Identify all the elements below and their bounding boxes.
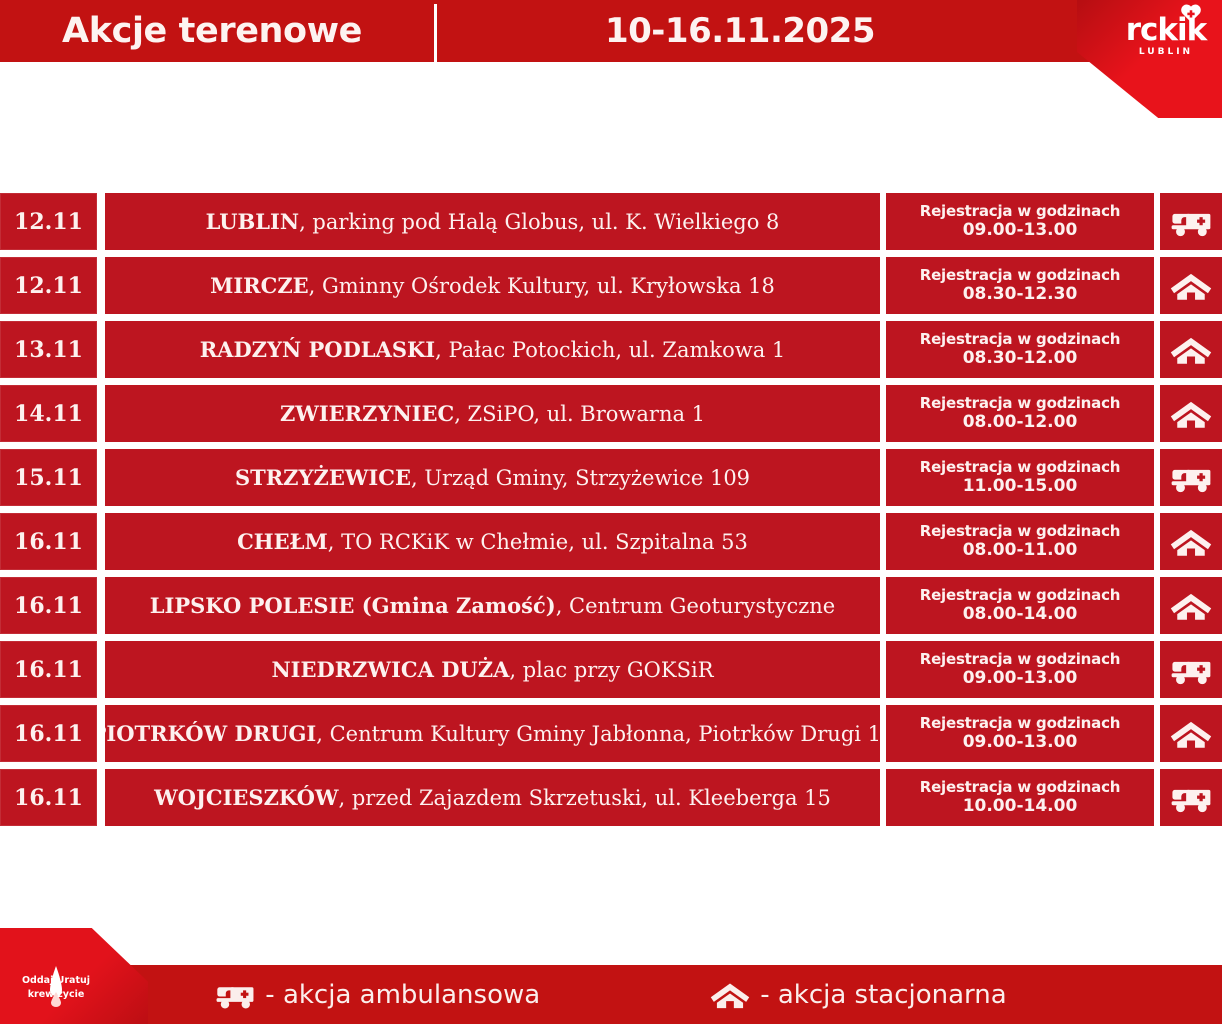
row-city: LUBLIN <box>206 209 299 234</box>
row-address: , przed Zajazdem Skrzetuski, ul. Kleeber… <box>339 786 831 810</box>
footer-legend-bar: - akcja ambulansowa - akcja stacjonarna <box>0 965 1222 1024</box>
legend-label-ambulance: - akcja ambulansowa <box>265 980 540 1010</box>
row-address: , parking pod Halą Globus, ul. K. Wielki… <box>299 210 779 234</box>
row-address: , Gminny Ośrodek Kultury, ul. Kryłowska … <box>309 274 775 298</box>
row-date: 13.11 <box>0 321 97 378</box>
row-date: 12.11 <box>0 257 97 314</box>
logo-wordmark: rckik <box>1118 6 1214 46</box>
row-action-type-icon <box>1160 513 1222 570</box>
registration-label: Rejestracja w godzinach <box>920 522 1121 540</box>
row-city: PIOTRKÓW DRUGI <box>105 721 316 746</box>
cell-gap <box>97 513 105 570</box>
house-icon <box>1170 397 1212 431</box>
row-address: , Pałac Potockich, ul. Zamkowa 1 <box>435 338 785 362</box>
registration-hours: 10.00-14.00 <box>963 796 1078 817</box>
table-row: 16.11CHEŁM, TO RCKiK w Chełmie, ul. Szpi… <box>0 513 1222 570</box>
table-row: 16.11LIPSKO POLESIE (Gmina Zamość), Cent… <box>0 577 1222 634</box>
house-icon <box>1170 717 1212 751</box>
row-city: NIEDRZWICA DUŻA <box>271 657 509 682</box>
table-row: 15.11STRZYŻEWICE, Urząd Gminy, Strzyżewi… <box>0 449 1222 506</box>
row-action-type-icon <box>1160 705 1222 762</box>
row-action-type-icon <box>1160 449 1222 506</box>
row-address: , Centrum Kultury Gminy Jabłonna, Piotrk… <box>316 722 880 746</box>
row-registration: Rejestracja w godzinach09.00-13.00 <box>886 705 1154 762</box>
house-icon <box>710 979 750 1011</box>
row-date: 16.11 <box>0 641 97 698</box>
row-city: STRZYŻEWICE <box>235 465 411 490</box>
table-row: 14.11ZWIERZYNIEC, ZSiPO, ul. Browarna 1R… <box>0 385 1222 442</box>
donate-blood-badge: Oddaj Uratuj krew życie <box>0 928 148 1024</box>
header-divider <box>434 4 437 62</box>
row-date: 15.11 <box>0 449 97 506</box>
registration-hours: 09.00-13.00 <box>963 732 1078 753</box>
row-date: 16.11 <box>0 577 97 634</box>
row-address: , Urząd Gminy, Strzyżewice 109 <box>411 466 750 490</box>
row-location: STRZYŻEWICE, Urząd Gminy, Strzyżewice 10… <box>105 449 880 506</box>
row-address: , TO RCKiK w Chełmie, ul. Szpitalna 53 <box>328 530 748 554</box>
row-location: RADZYŃ PODLASKI, Pałac Potockich, ul. Za… <box>105 321 880 378</box>
row-address: , Centrum Geoturystyczne <box>556 594 836 618</box>
row-registration: Rejestracja w godzinach11.00-15.00 <box>886 449 1154 506</box>
registration-label: Rejestracja w godzinach <box>920 778 1121 796</box>
registration-hours: 08.30-12.00 <box>963 348 1078 369</box>
legend-item-ambulance: - akcja ambulansowa <box>215 979 540 1011</box>
registration-label: Rejestracja w godzinach <box>920 394 1121 412</box>
row-registration: Rejestracja w godzinach08.00-11.00 <box>886 513 1154 570</box>
legend-item-house: - akcja stacjonarna <box>710 979 1007 1011</box>
row-address: , ZSiPO, ul. Browarna 1 <box>454 402 705 426</box>
table-row: 12.11MIRCZE, Gminny Ośrodek Kultury, ul.… <box>0 257 1222 314</box>
date-range: 10-16.11.2025 <box>450 0 1030 62</box>
row-location: WOJCIESZKÓW, przed Zajazdem Skrzetuski, … <box>105 769 880 826</box>
registration-hours: 09.00-13.00 <box>963 220 1078 241</box>
row-location: LIPSKO POLESIE (Gmina Zamość), Centrum G… <box>105 577 880 634</box>
row-action-type-icon <box>1160 257 1222 314</box>
row-address: , plac przy GOKSiR <box>509 658 713 682</box>
row-city: RADZYŃ PODLASKI <box>200 337 435 362</box>
row-registration: Rejestracja w godzinach08.30-12.30 <box>886 257 1154 314</box>
table-row: 16.11PIOTRKÓW DRUGI, Centrum Kultury Gmi… <box>0 705 1222 762</box>
table-row: 12.11LUBLIN, parking pod Halą Globus, ul… <box>0 193 1222 250</box>
house-icon <box>1170 525 1212 559</box>
registration-label: Rejestracja w godzinach <box>920 586 1121 604</box>
legend-label-house: - akcja stacjonarna <box>760 980 1007 1010</box>
ambulance-icon <box>1170 653 1212 687</box>
header-bar: Akcje terenowe 10-16.11.2025 <box>0 0 1222 62</box>
row-city: CHEŁM <box>237 529 328 554</box>
row-city: MIRCZE <box>210 273 309 298</box>
row-date: 16.11 <box>0 513 97 570</box>
table-row: 16.11WOJCIESZKÓW, przed Zajazdem Skrzetu… <box>0 769 1222 826</box>
registration-label: Rejestracja w godzinach <box>920 714 1121 732</box>
house-icon <box>1170 333 1212 367</box>
ambulance-icon <box>215 979 255 1011</box>
row-city: WOJCIESZKÓW <box>154 785 338 810</box>
house-icon <box>1170 589 1212 623</box>
ambulance-icon <box>1170 461 1212 495</box>
row-location: LUBLIN, parking pod Halą Globus, ul. K. … <box>105 193 880 250</box>
cell-gap <box>97 705 105 762</box>
ambulance-icon <box>1170 781 1212 815</box>
cell-gap <box>97 577 105 634</box>
registration-hours: 11.00-15.00 <box>963 476 1078 497</box>
cell-gap <box>97 193 105 250</box>
registration-hours: 08.00-11.00 <box>963 540 1078 561</box>
row-location: NIEDRZWICA DUŻA, plac przy GOKSiR <box>105 641 880 698</box>
house-icon <box>1170 269 1212 303</box>
rckik-logo: rckik LUBLIN <box>1118 6 1214 57</box>
registration-label: Rejestracja w godzinach <box>920 330 1121 348</box>
row-action-type-icon <box>1160 193 1222 250</box>
logo-subtitle: LUBLIN <box>1118 48 1214 57</box>
row-registration: Rejestracja w godzinach09.00-13.00 <box>886 193 1154 250</box>
row-registration: Rejestracja w godzinach09.00-13.00 <box>886 641 1154 698</box>
row-city: ZWIERZYNIEC <box>280 401 454 426</box>
poster-page: Akcje terenowe 10-16.11.2025 rckik LUBLI… <box>0 0 1222 1024</box>
row-date: 14.11 <box>0 385 97 442</box>
cell-gap <box>97 641 105 698</box>
registration-label: Rejestracja w godzinach <box>920 458 1121 476</box>
row-registration: Rejestracja w godzinach08.00-14.00 <box>886 577 1154 634</box>
row-date: 16.11 <box>0 769 97 826</box>
row-registration: Rejestracja w godzinach10.00-14.00 <box>886 769 1154 826</box>
row-action-type-icon <box>1160 321 1222 378</box>
row-location: ZWIERZYNIEC, ZSiPO, ul. Browarna 1 <box>105 385 880 442</box>
cell-gap <box>97 385 105 442</box>
row-action-type-icon <box>1160 641 1222 698</box>
badge-slogan-line2: krew życie <box>6 988 106 1002</box>
ambulance-icon <box>1170 205 1212 239</box>
row-date: 16.11 <box>0 705 97 762</box>
row-action-type-icon <box>1160 577 1222 634</box>
registration-hours: 08.00-14.00 <box>963 604 1078 625</box>
registration-hours: 08.30-12.30 <box>963 284 1078 305</box>
registration-hours: 09.00-13.00 <box>963 668 1078 689</box>
table-row: 13.11RADZYŃ PODLASKI, Pałac Potockich, u… <box>0 321 1222 378</box>
cell-gap <box>97 257 105 314</box>
heart-icon <box>1180 3 1202 23</box>
cell-gap <box>97 321 105 378</box>
table-row: 16.11NIEDRZWICA DUŻA, plac przy GOKSiRRe… <box>0 641 1222 698</box>
cell-gap <box>97 449 105 506</box>
page-title: Akcje terenowe <box>0 0 424 62</box>
registration-label: Rejestracja w godzinach <box>920 266 1121 284</box>
row-location: CHEŁM, TO RCKiK w Chełmie, ul. Szpitalna… <box>105 513 880 570</box>
row-location: MIRCZE, Gminny Ośrodek Kultury, ul. Krył… <box>105 257 880 314</box>
events-table: 12.11LUBLIN, parking pod Halą Globus, ul… <box>0 193 1222 833</box>
registration-hours: 08.00-12.00 <box>963 412 1078 433</box>
badge-slogan: Oddaj Uratuj krew życie <box>6 974 106 1002</box>
row-action-type-icon <box>1160 769 1222 826</box>
registration-label: Rejestracja w godzinach <box>920 202 1121 220</box>
row-action-type-icon <box>1160 385 1222 442</box>
row-city: LIPSKO POLESIE (Gmina Zamość) <box>150 593 556 618</box>
registration-label: Rejestracja w godzinach <box>920 650 1121 668</box>
cell-gap <box>97 769 105 826</box>
badge-slogan-line1: Oddaj Uratuj <box>6 974 106 988</box>
row-date: 12.11 <box>0 193 97 250</box>
row-registration: Rejestracja w godzinach08.00-12.00 <box>886 385 1154 442</box>
row-registration: Rejestracja w godzinach08.30-12.00 <box>886 321 1154 378</box>
row-location: PIOTRKÓW DRUGI, Centrum Kultury Gminy Ja… <box>105 705 880 762</box>
